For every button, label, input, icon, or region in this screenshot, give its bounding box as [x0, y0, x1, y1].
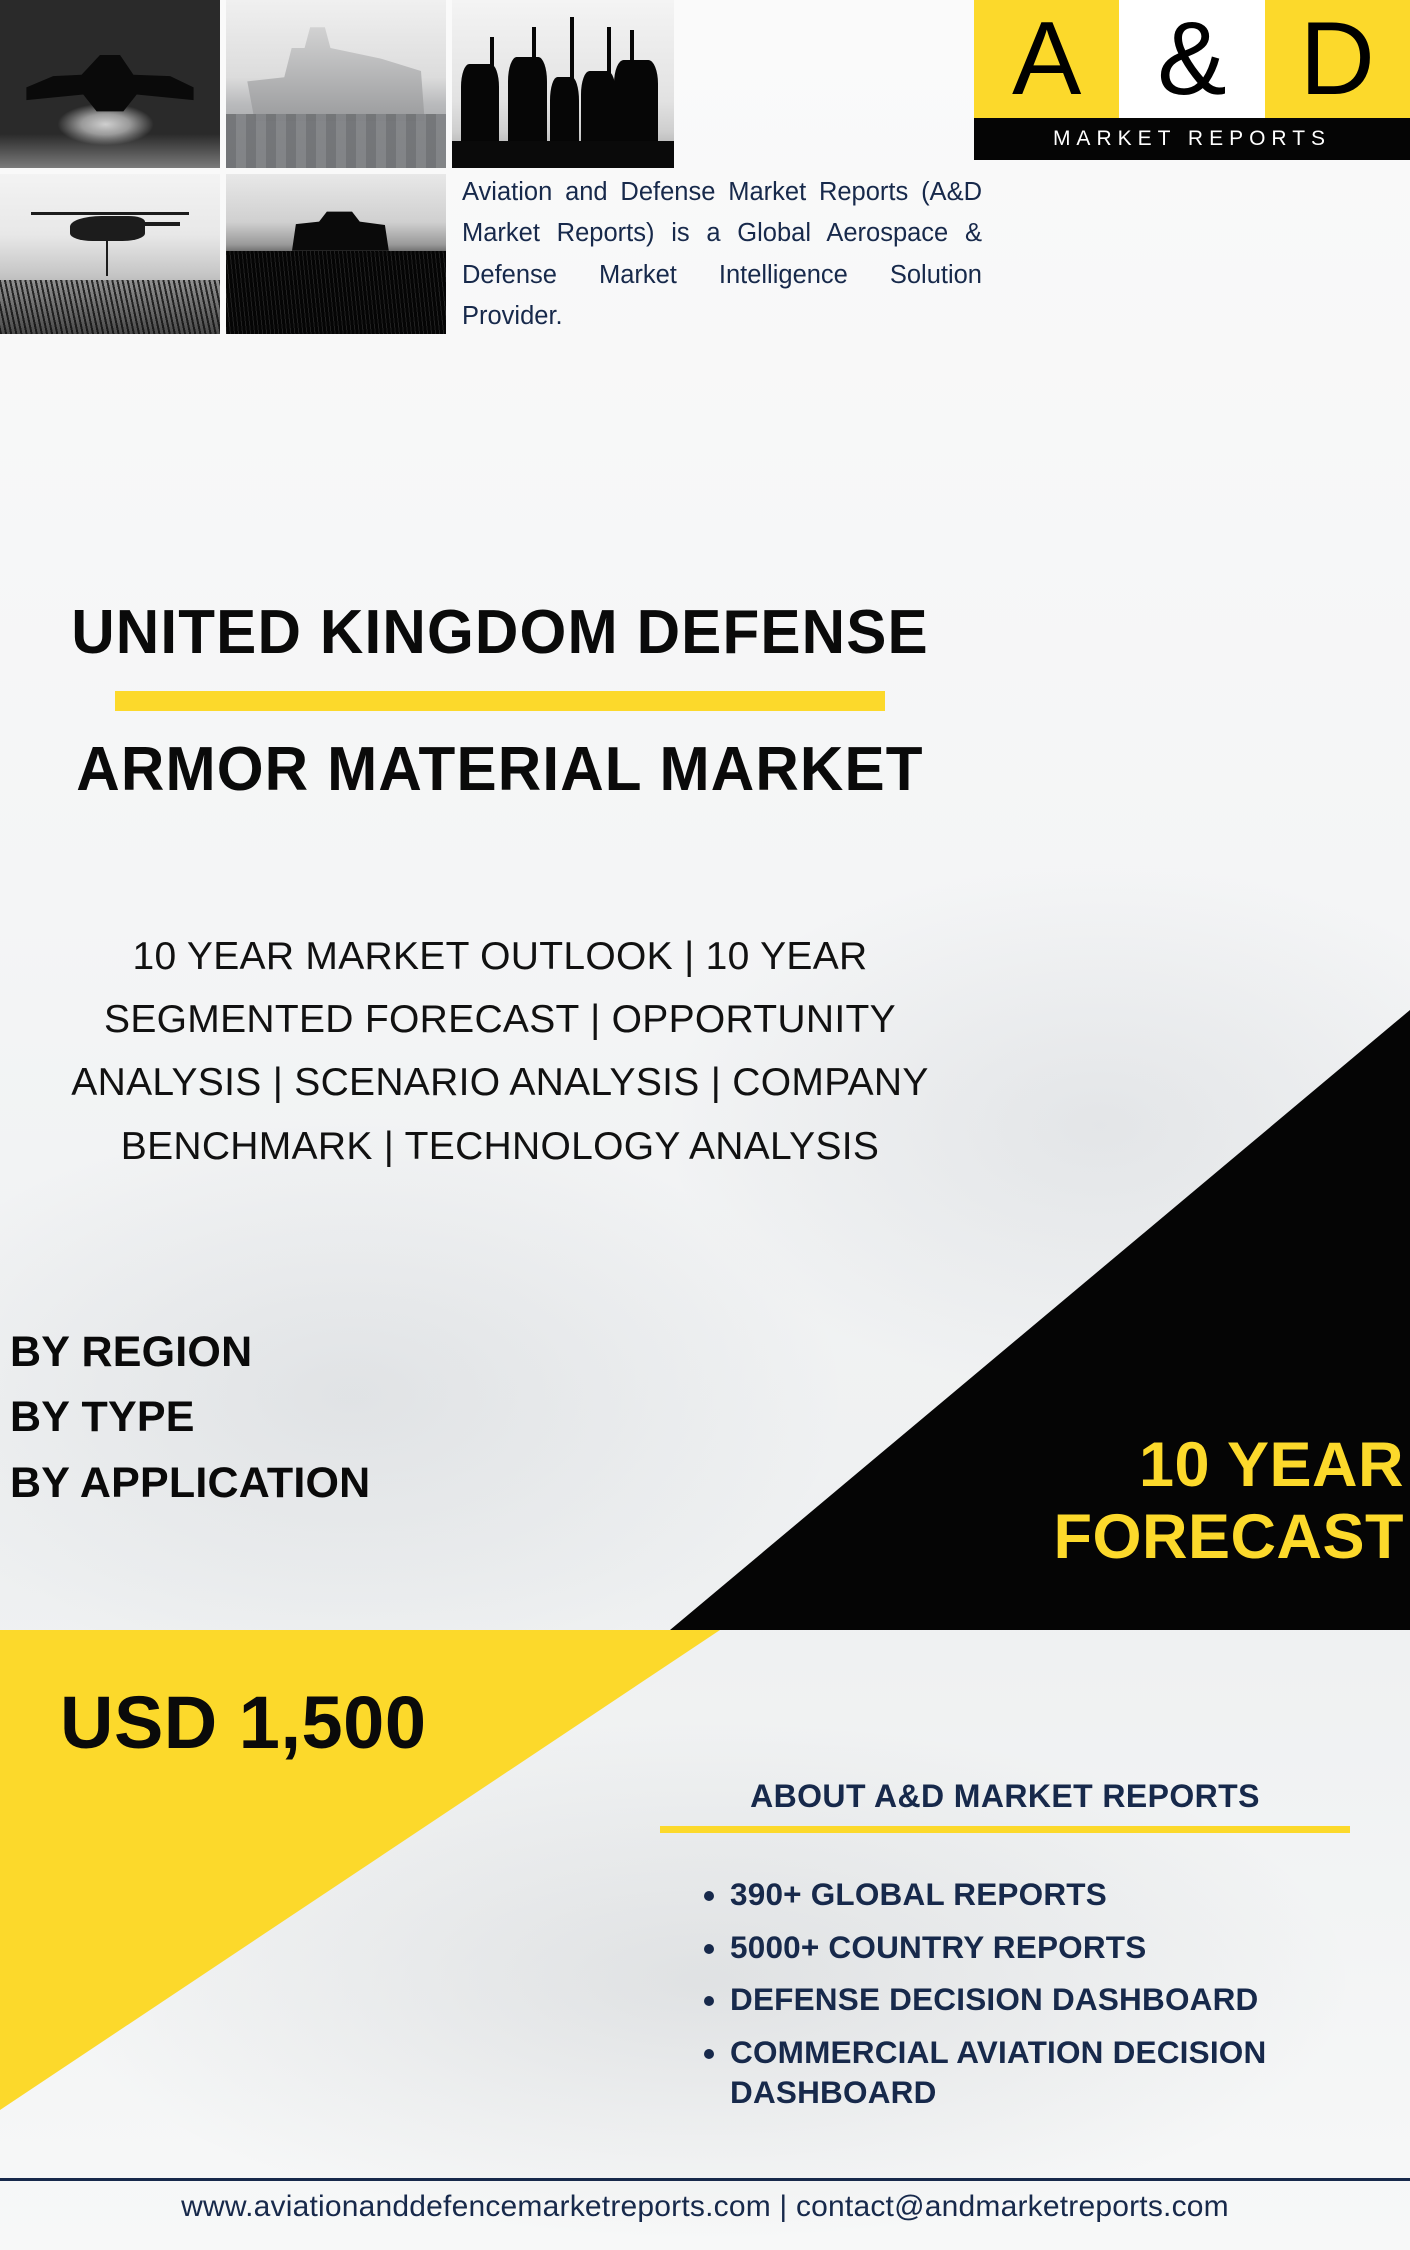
- list-item: 5000+ COUNTRY REPORTS: [730, 1928, 1350, 1968]
- list-item: 390+ GLOBAL REPORTS: [730, 1875, 1350, 1915]
- report-title-block: UNITED KINGDOM DEFENSE ARMOR MATERIAL MA…: [0, 600, 1000, 804]
- company-intro-text: Aviation and Defense Market Reports (A&D…: [462, 172, 982, 337]
- soldiers-silhouette-photo: [452, 0, 674, 168]
- logo-letter-d: D: [1265, 0, 1410, 118]
- footer-divider: [0, 2178, 1410, 2181]
- about-bullet-list: 390+ GLOBAL REPORTS 5000+ COUNTRY REPORT…: [730, 1875, 1350, 2112]
- logo-letter-a: A: [974, 0, 1119, 118]
- logo-ampersand: &: [1119, 0, 1264, 118]
- fighter-jet-photo: [0, 0, 220, 168]
- aircraft-carrier-photo: [226, 0, 446, 168]
- ad-market-reports-logo: A & D MARKET REPORTS: [974, 0, 1410, 160]
- title-yellow-rule: [115, 691, 885, 711]
- forecast-badge-line-2: FORECAST: [884, 1502, 1404, 1574]
- price-value: USD 1,500: [60, 1680, 426, 1765]
- report-title-line-2: ARMOR MATERIAL MARKET: [15, 737, 985, 804]
- report-features-text: 10 YEAR MARKET OUTLOOK | 10 YEAR SEGMENT…: [30, 925, 970, 1178]
- forecast-badge-line-1: 10 YEAR: [884, 1430, 1404, 1502]
- helicopter-photo: [0, 174, 220, 334]
- armored-vehicle-photo: [226, 174, 446, 334]
- segment-by-region: BY REGION: [10, 1320, 630, 1385]
- footer-contact: www.aviationanddefencemarketreports.com …: [0, 2190, 1410, 2224]
- segmentation-list: BY REGION BY TYPE BY APPLICATION: [10, 1320, 630, 1516]
- forecast-badge: 10 YEAR FORECAST: [884, 1430, 1404, 1574]
- about-section: ABOUT A&D MARKET REPORTS 390+ GLOBAL REP…: [660, 1778, 1350, 2125]
- about-heading: ABOUT A&D MARKET REPORTS: [660, 1778, 1350, 1815]
- logo-tagline-bar: MARKET REPORTS: [974, 118, 1410, 160]
- list-item: DEFENSE DECISION DASHBOARD: [730, 1980, 1350, 2020]
- segment-by-type: BY TYPE: [10, 1385, 630, 1450]
- segment-by-application: BY APPLICATION: [10, 1451, 630, 1516]
- about-yellow-rule: [660, 1826, 1350, 1833]
- report-title-line-1: UNITED KINGDOM DEFENSE: [15, 600, 985, 667]
- list-item: COMMERCIAL AVIATION DECISION DASHBOARD: [730, 2033, 1350, 2112]
- logo-letters: A & D: [974, 0, 1410, 118]
